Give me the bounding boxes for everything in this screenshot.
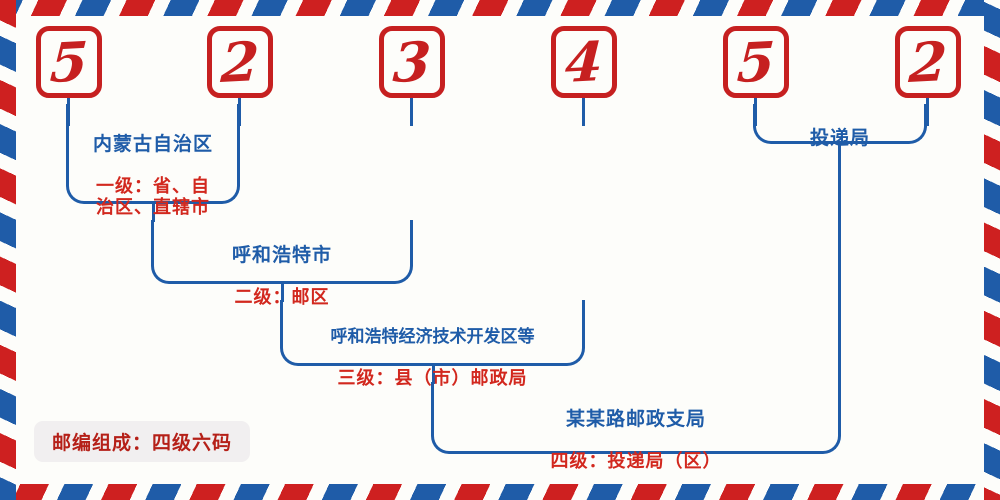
label-level-1-sub: 一级：省、自 治区、直辖市 [66,176,240,218]
drop-delivery [838,142,841,384]
label-delivery-main: 投递局 [753,127,927,149]
legend-text: 邮编组成：四级六码 [52,428,232,455]
postcode-diagram: 5 2 3 4 5 2 内蒙古自治区 一级：省、自 治区、直辖市 呼和浩特市 二… [0,0,1000,500]
stem-digit-3 [410,96,413,126]
envelope-border-left [0,0,16,500]
digit-value-2: 2 [210,30,269,95]
label-delivery: 投递局 [753,108,927,168]
label-level-1-main: 内蒙古自治区 [66,133,240,155]
digit-card-3: 3 [379,26,445,98]
envelope-border-top [0,0,1000,16]
digit-card-2: 2 [207,26,273,98]
digit-card-5: 5 [723,26,789,98]
legend-pill: 邮编组成：四级六码 [34,421,250,462]
digit-card-1: 5 [36,26,102,98]
label-level-4-sub: 四级：投递局（区） [431,451,841,472]
digit-value-5: 5 [726,30,785,95]
digit-value-6: 2 [898,30,957,95]
digit-card-6: 2 [895,26,961,98]
label-level-3-main: 呼和浩特经济技术开发区等 [280,327,585,347]
label-level-4-main: 某某路邮政支局 [431,408,841,430]
label-level-2-main: 呼和浩特市 [151,244,413,266]
label-level-3-sub: 三级：县（市）邮政局 [280,368,585,389]
digit-value-1: 5 [39,30,98,95]
label-level-1: 内蒙古自治区 一级：省、自 治区、直辖市 [66,114,240,238]
label-level-4: 某某路邮政支局 四级：投递局（区） [431,389,841,491]
label-level-2-sub: 二级：邮区 [151,287,413,308]
digit-value-4: 4 [554,30,613,95]
stem-digit-4 [582,96,585,126]
envelope-border-right [984,0,1000,500]
digit-value-3: 3 [382,30,441,95]
digit-card-4: 4 [551,26,617,98]
